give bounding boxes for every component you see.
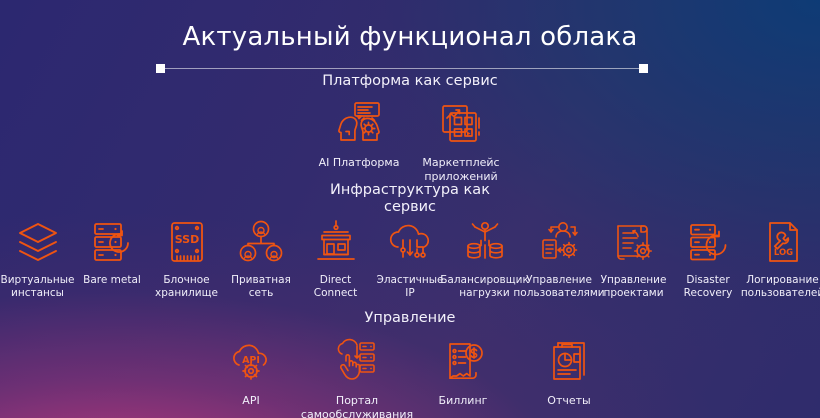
- elastic-ip-icon: [386, 218, 434, 266]
- marketplace-icon: [437, 100, 485, 148]
- item-label: Маркетплейс приложений: [422, 156, 499, 183]
- item-label: Управление пользователями: [513, 274, 604, 300]
- item-label: Портал самообслуживания: [301, 394, 413, 418]
- item-marketplace[interactable]: Маркетплейс приложений: [419, 100, 503, 183]
- item-label: Direct Connect: [314, 274, 357, 300]
- item-label: Приватная сеть: [231, 274, 291, 300]
- api-icon: API: [227, 338, 275, 386]
- divider-rule: [160, 68, 644, 69]
- item-disaster-recovery[interactable]: Disaster Recovery: [671, 218, 746, 300]
- disaster-recovery-icon: [684, 218, 732, 266]
- direct-connect-icon: [312, 218, 360, 266]
- item-elastic-ip[interactable]: Эластичные IP: [373, 218, 448, 300]
- item-label: AI Платформа: [319, 156, 400, 170]
- svg-text:SSD: SSD: [174, 233, 198, 246]
- svg-text:LOG: LOG: [773, 248, 792, 258]
- log-file-icon: LOG: [759, 218, 807, 266]
- user-management-icon: [535, 218, 583, 266]
- item-label: Bare metal: [83, 274, 141, 287]
- item-api[interactable]: API API: [208, 338, 294, 408]
- item-label: Disaster Recovery: [684, 274, 733, 300]
- item-billing[interactable]: Биллинг: [420, 338, 506, 408]
- item-reports[interactable]: Отчеты: [526, 338, 612, 408]
- item-load-balancer[interactable]: Балансировщик нагрузки: [447, 218, 522, 300]
- item-project-management[interactable]: Управление проектами: [596, 218, 671, 300]
- divider-cap-right: [639, 64, 648, 73]
- item-label: Блочное хранилище: [155, 274, 218, 300]
- item-user-management[interactable]: Управление пользователями: [522, 218, 597, 300]
- item-label: Биллинг: [439, 394, 488, 408]
- page-title: Актуальный функционал облака: [0, 22, 820, 52]
- section-items-paas: AI Платформа Маркетплейс приложений: [0, 100, 820, 183]
- slide-canvas: Актуальный функционал облака Платформа к…: [0, 0, 820, 418]
- self-service-portal-icon: [333, 338, 381, 386]
- ai-platform-icon: [335, 100, 383, 148]
- project-management-icon: [610, 218, 658, 266]
- section-heading-iaas: Инфраструктура как сервис: [0, 182, 820, 216]
- ssd-icon: SSD: [163, 218, 211, 266]
- item-label: Виртуальные инстансы: [1, 274, 75, 300]
- reports-icon: [545, 338, 593, 386]
- item-bare-metal[interactable]: Bare metal: [75, 218, 150, 287]
- billing-icon: [439, 338, 487, 386]
- item-label: Управление проектами: [601, 274, 667, 300]
- bare-metal-icon: [88, 218, 136, 266]
- item-ai-platform[interactable]: AI Платформа: [317, 100, 401, 170]
- item-user-logging[interactable]: LOG Логирование пользователей: [745, 218, 820, 300]
- section-heading-paas: Платформа как сервис: [0, 73, 820, 90]
- item-virtual-instances[interactable]: Виртуальные инстансы: [0, 218, 75, 300]
- section-items-iaas: Виртуальные инстансы Bare metal: [0, 218, 820, 300]
- section-heading-management: Управление: [0, 310, 820, 327]
- item-label: Эластичные IP: [376, 274, 443, 300]
- item-label: API: [242, 394, 259, 408]
- layers-icon: [14, 218, 62, 266]
- item-private-network[interactable]: Приватная сеть: [224, 218, 299, 300]
- item-block-storage[interactable]: SSD Блочное хранилище: [149, 218, 224, 300]
- private-network-icon: [237, 218, 285, 266]
- item-label: Логирование пользователей: [741, 274, 820, 300]
- title-divider: [156, 64, 648, 73]
- item-self-service-portal[interactable]: Портал самообслуживания: [314, 338, 400, 418]
- load-balancer-icon: [461, 218, 509, 266]
- section-items-management: API API: [0, 338, 820, 418]
- item-label: Отчеты: [547, 394, 590, 408]
- item-direct-connect[interactable]: Direct Connect: [298, 218, 373, 300]
